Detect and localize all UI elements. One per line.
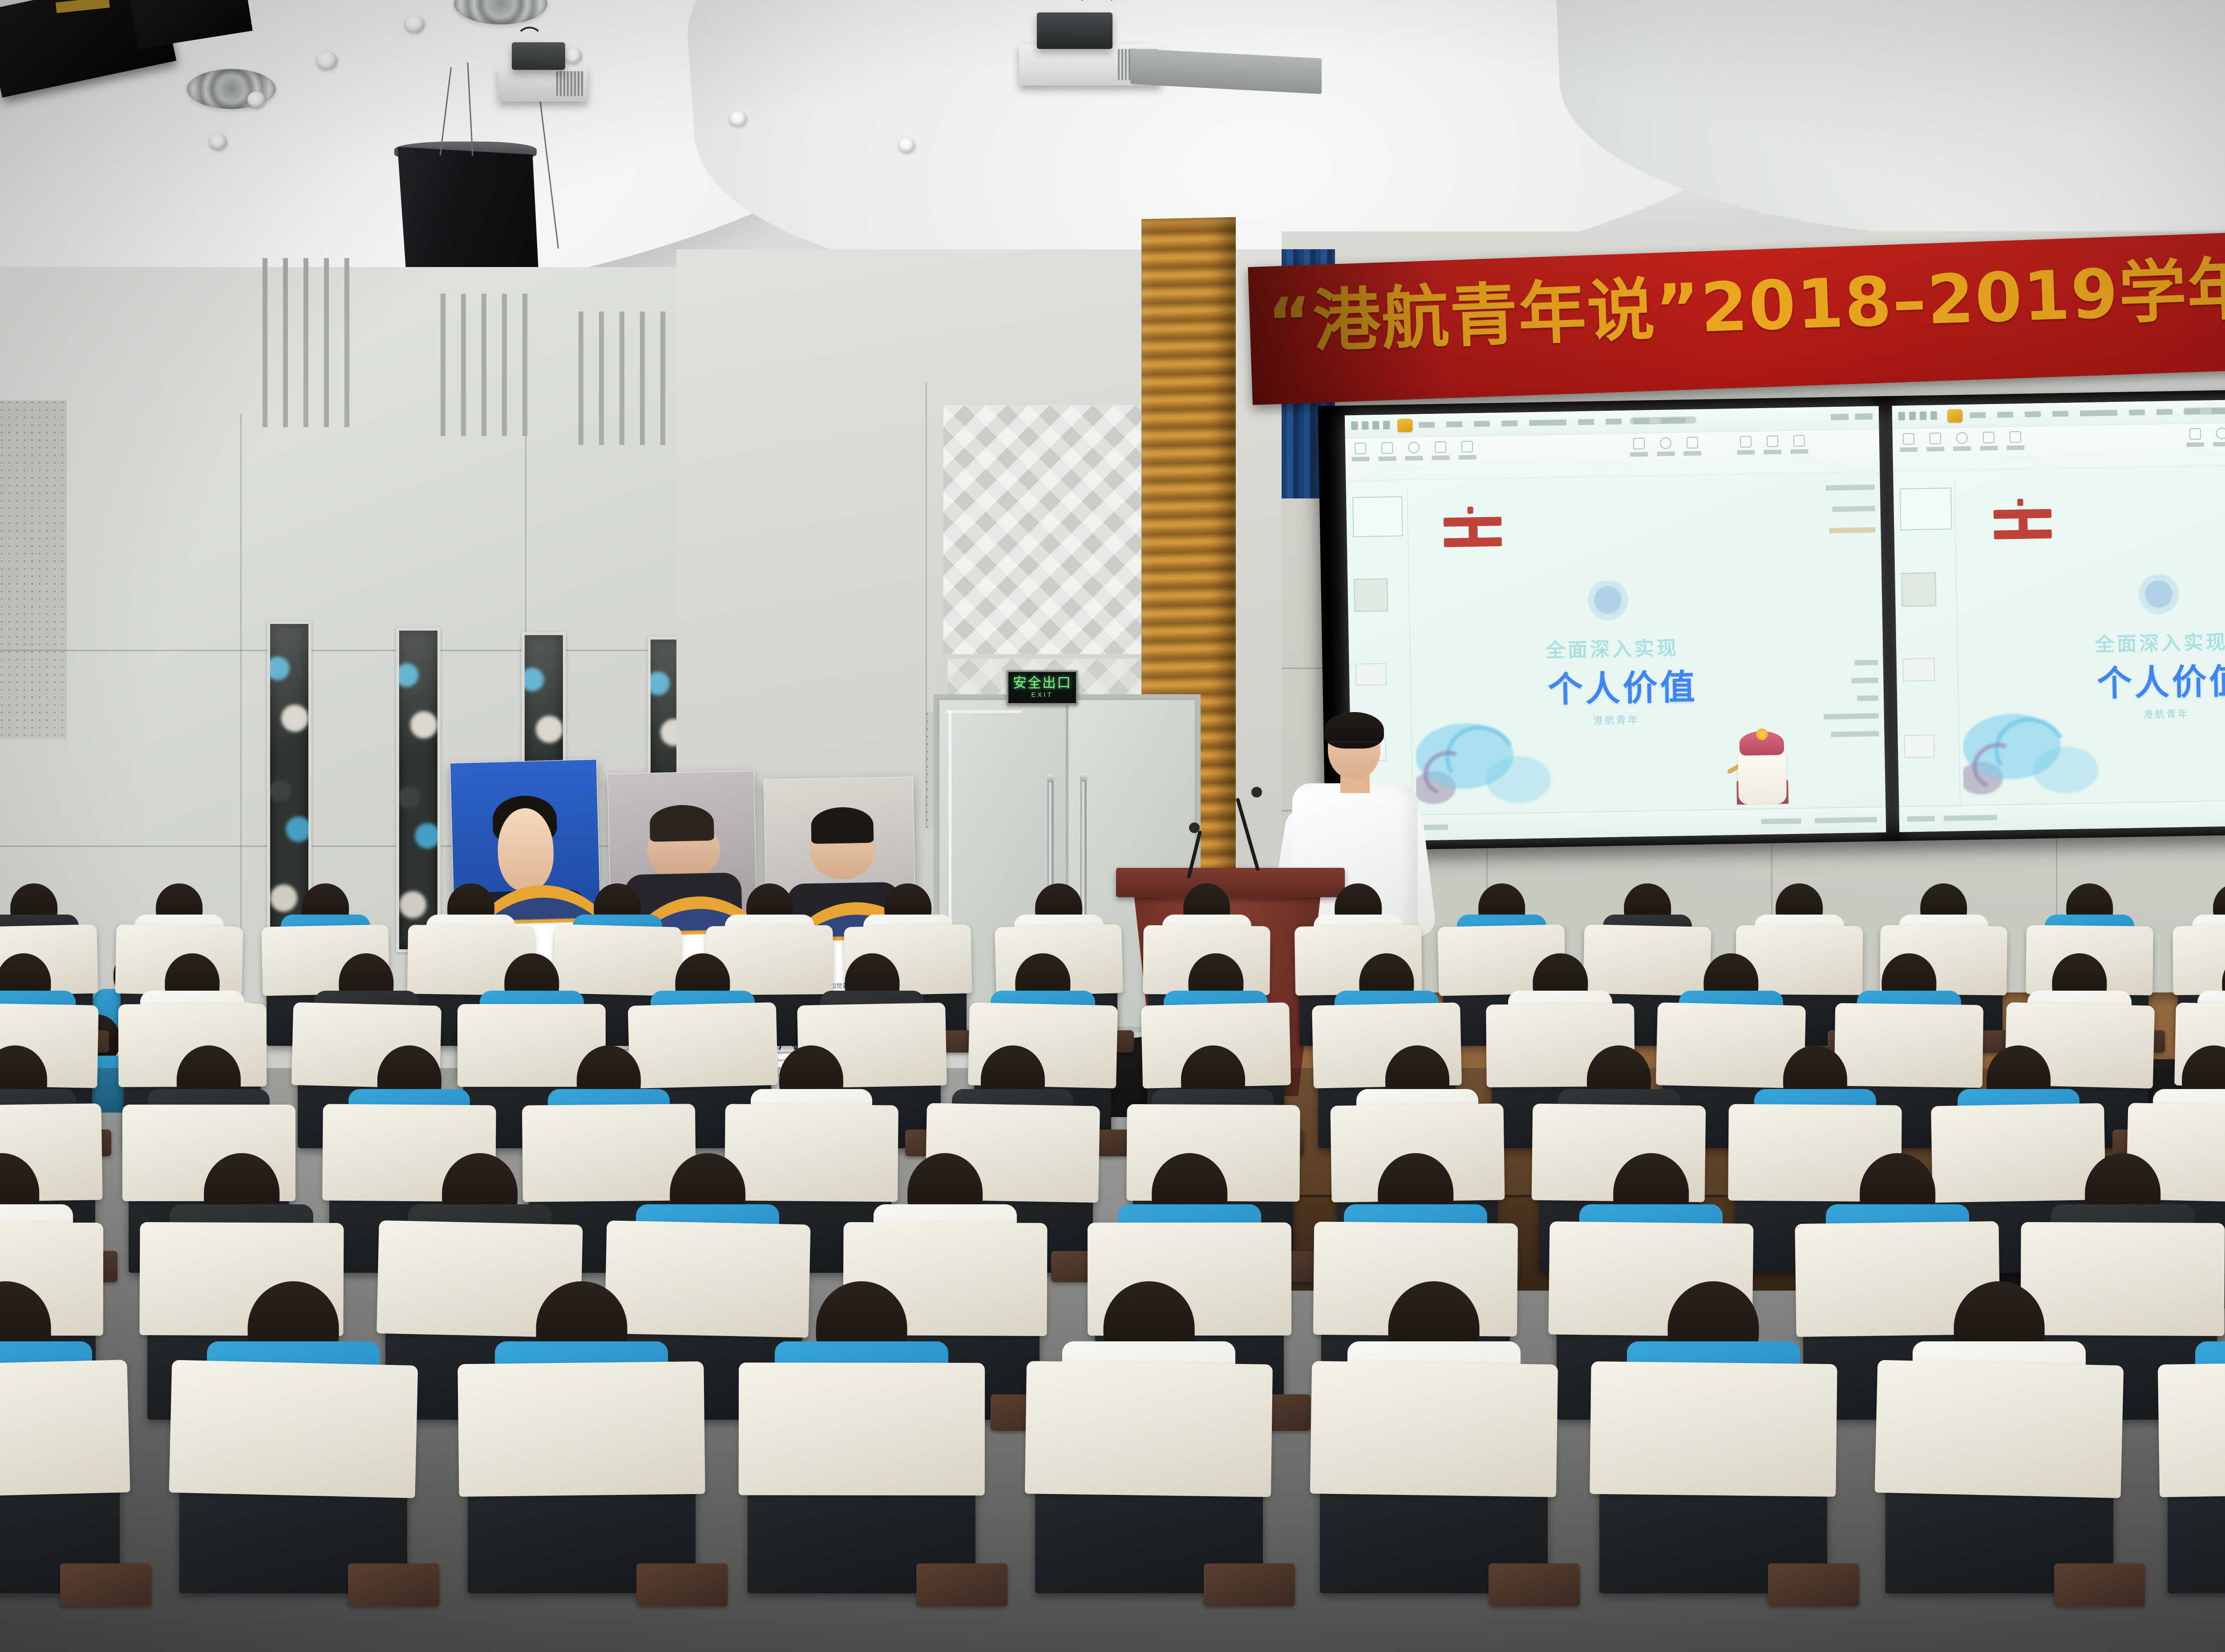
status-theme-label (1944, 815, 1997, 821)
ribbon-tab-animation[interactable] (1501, 421, 1517, 427)
slide-thumbnail[interactable] (1903, 658, 1935, 681)
auditorium-seat[interactable] (0, 1380, 120, 1593)
seat-armrest[interactable] (2054, 1563, 2145, 1606)
ribbon-tab-transition[interactable] (2025, 411, 2041, 417)
ribbon-arrange-icon[interactable] (1687, 437, 1698, 448)
slide-canvas: 全面深入实现 个人价值 港航青年 (1411, 483, 1809, 810)
ribbon-tab-animation[interactable] (2052, 411, 2068, 417)
ceiling-light-icon (405, 16, 425, 32)
exit-sign-chinese: 安全出口 (1013, 676, 1072, 690)
auditorium-seat[interactable] (1035, 1380, 1263, 1593)
projector-vent-icon (556, 71, 584, 96)
wave-ornament (1958, 642, 2147, 801)
ribbon-tab-insert[interactable] (1970, 412, 1986, 418)
seat-headrest-cover (1025, 1361, 1273, 1497)
exit-sign-english: EXIT (1031, 691, 1053, 699)
slide-canvas: 全面深入实现 个人价值 港航青年 (1958, 474, 2225, 801)
wps-print-icon[interactable] (1383, 421, 1390, 429)
red-seal-graphic (1993, 498, 2052, 547)
status-zoom-slider[interactable] (1815, 817, 1877, 823)
wps-logo-icon (1947, 409, 1963, 423)
rig-bar (56, 0, 110, 13)
ceiling-light-icon (209, 134, 227, 150)
ribbon-tab-review[interactable] (2129, 409, 2145, 416)
ceiling-vault-panel (1550, 0, 2225, 259)
seat-headrest-cover (2158, 1361, 2225, 1497)
auditorium-seat[interactable] (179, 1380, 407, 1593)
ribbon-tab-insert[interactable] (1419, 422, 1435, 428)
seat-headrest-cover (1590, 1361, 1837, 1496)
pyramid-acoustic-panel (943, 405, 1157, 654)
red-seal-graphic (1443, 505, 1502, 554)
ribbon-shape-icon[interactable] (1956, 432, 1968, 444)
ribbon-tab-slideshow[interactable] (1529, 420, 1566, 426)
ribbon-text-icon[interactable] (1633, 438, 1645, 449)
ribbon-align-icon[interactable] (2216, 428, 2225, 439)
slide-notes-pane[interactable] (1806, 482, 1883, 802)
wps-undo-icon[interactable] (1362, 421, 1368, 429)
ceiling-projector (498, 67, 587, 101)
wps-save-icon[interactable] (1898, 412, 1905, 420)
auditorium-seat[interactable] (1885, 1380, 2113, 1593)
slide-sub-note: 港航青年 (1593, 712, 1640, 727)
auditorium-seat[interactable] (2168, 1380, 2225, 1593)
event-banner-text: “港航青年说”2018–2019学年第1期 (1266, 248, 2225, 357)
ceiling-light-icon (317, 52, 337, 69)
ribbon-align-icon[interactable] (1660, 437, 1671, 449)
slide-thumbnail[interactable] (1355, 663, 1387, 686)
hanging-speaker (392, 147, 538, 276)
seat-armrest[interactable] (1489, 1563, 1580, 1606)
wps-search-box[interactable] (2183, 407, 2225, 415)
slide-thumbnail-pane[interactable] (1896, 479, 1961, 805)
seat-headrest-cover (1310, 1361, 1558, 1497)
ceiling-light-icon (247, 92, 265, 108)
seat-armrest[interactable] (916, 1563, 1007, 1606)
slide-thumbnail[interactable] (1901, 572, 1936, 607)
ribbon-tab-design[interactable] (1997, 412, 2013, 418)
ribbon-tab-slideshow[interactable] (2080, 410, 2117, 416)
glasses-icon (1330, 741, 1379, 750)
wps-print-icon[interactable] (1930, 411, 1937, 420)
ribbon-font-icon[interactable] (1930, 433, 1941, 444)
wall-seam (926, 383, 927, 828)
wps-redo-icon[interactable] (1372, 421, 1379, 429)
perforated-acoustic-panel (0, 401, 67, 739)
poster-candid-hair (649, 804, 714, 842)
wps-search-box[interactable] (1630, 417, 1696, 425)
wave-ornament (1411, 652, 1599, 810)
seat-armrest[interactable] (60, 1563, 151, 1606)
ribbon-select-icon[interactable] (1793, 435, 1805, 446)
microphone-icon (1251, 787, 1262, 798)
seat-headrest-cover (458, 1361, 705, 1496)
ribbon-find-icon[interactable] (1767, 435, 1778, 447)
ribbon-tab-transition[interactable] (1474, 421, 1490, 427)
university-badge-watermark (2138, 575, 2180, 618)
wps-redo-icon[interactable] (1920, 412, 1926, 420)
seat-headrest-cover (1875, 1360, 2124, 1498)
microphone-icon (1189, 822, 1200, 833)
wall-stripe-decor (578, 312, 667, 445)
ceiling-light-icon (564, 48, 582, 63)
slide-thumbnail[interactable] (1904, 734, 1935, 758)
ribbon-layout-icon[interactable] (1435, 441, 1446, 453)
ribbon-text-icon[interactable] (2189, 428, 2201, 440)
wps-save-icon[interactable] (1351, 421, 1358, 430)
ribbon-tab-review[interactable] (1578, 419, 1594, 425)
auditorium-scene: 安全出口 EXIT “港航青年说”2018–2019学年第1期 (0, 0, 2225, 1652)
ribbon-slide-icon[interactable] (2010, 431, 2021, 443)
seat-armrest[interactable] (636, 1563, 728, 1606)
projection-screen-right: 全面深入实现 个人价值 港航青年 (1892, 397, 2225, 832)
wps-ribbon (1345, 429, 1880, 481)
status-view-buttons[interactable] (1761, 818, 1801, 825)
mascot-illustration (1727, 726, 1796, 808)
status-slide-count (1907, 816, 1935, 822)
wall-stripe-decor (441, 294, 530, 436)
wps-logo-icon (1397, 419, 1413, 433)
wall-stripe-decor (263, 258, 352, 427)
auditorium-seat[interactable] (1599, 1380, 1827, 1593)
ceiling-light-icon (730, 111, 747, 126)
ribbon-layout-icon[interactable] (1983, 432, 1994, 443)
door-glass-reflection (946, 710, 1022, 713)
wps-collab-icon[interactable] (1855, 413, 1873, 420)
ceiling-light-icon (899, 138, 915, 152)
ribbon-export-icon[interactable] (1740, 436, 1752, 447)
ribbon-tab-design[interactable] (1446, 421, 1462, 428)
seat-armrest[interactable] (348, 1563, 439, 1606)
projector-cable (516, 27, 543, 53)
wall-seam (240, 414, 242, 948)
slide-thumbnail[interactable] (1352, 496, 1403, 537)
projection-screen-frame: 全面深入实现 个人价值 港航青年 (1318, 386, 2225, 851)
exit-sign: 安全出口 EXIT (1007, 670, 1078, 705)
slide-thumbnail[interactable] (1354, 579, 1388, 612)
ribbon-tab-view[interactable] (1606, 418, 1622, 425)
university-badge-watermark (1587, 580, 1629, 624)
ribbon-font-icon[interactable] (1381, 442, 1393, 453)
seat-armrest[interactable] (1768, 1563, 1859, 1606)
ribbon-slide-icon[interactable] (1461, 441, 1473, 452)
wps-share-icon[interactable] (1831, 414, 1849, 421)
wps-undo-icon[interactable] (1909, 412, 1916, 420)
seat-headrest-cover (738, 1362, 984, 1495)
ribbon-paste-icon[interactable] (1355, 442, 1366, 454)
seat-armrest[interactable] (1204, 1563, 1295, 1606)
auditorium-seat[interactable] (748, 1380, 975, 1593)
slide-thumbnail[interactable] (1900, 488, 1952, 530)
speaker-shell (392, 147, 538, 276)
seat-headrest-cover (0, 1360, 130, 1498)
wps-window-controls[interactable] (1831, 413, 1873, 421)
auditorium-seat[interactable] (1320, 1380, 1548, 1593)
ribbon-paste-icon[interactable] (1903, 433, 1914, 445)
poster-candid-hair (811, 806, 874, 843)
ribbon-shape-icon[interactable] (1408, 441, 1420, 453)
slide-sub-note: 港航青年 (2143, 706, 2190, 721)
wps-status-bar (1352, 806, 1886, 842)
auditorium-seat[interactable] (468, 1380, 696, 1593)
ribbon-tab-view[interactable] (2156, 409, 2172, 415)
seat-headrest-cover (169, 1360, 418, 1498)
